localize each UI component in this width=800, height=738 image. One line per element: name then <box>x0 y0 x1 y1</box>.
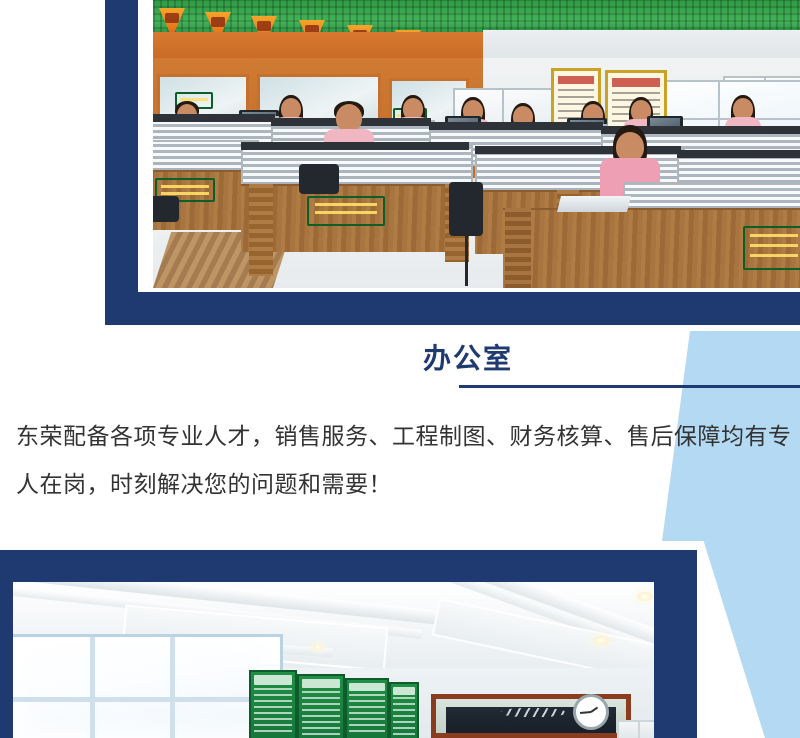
section-heading-block: 办公室 <box>0 331 800 393</box>
cubicle-partition-cap <box>677 150 800 158</box>
window-wall <box>13 634 283 738</box>
page-title: 办公室 <box>423 337 513 377</box>
training-room-photo <box>13 582 654 738</box>
open-plan-office-photo <box>153 0 800 288</box>
notice-board <box>389 682 419 738</box>
cubicle-partition-cap <box>153 114 275 122</box>
section-description: 东荣配备各项专业人才，销售服务、工程制图、财务核算、售后保障均有专人在岗，时刻解… <box>16 412 796 508</box>
wall-clock <box>573 694 609 730</box>
cubicle-partition-cap <box>241 142 469 150</box>
chair-post <box>465 234 468 286</box>
notice-board <box>297 674 345 738</box>
downlight <box>637 592 653 601</box>
downlight <box>593 636 609 645</box>
cubicle-partition-cap <box>429 122 603 130</box>
office-chair <box>449 182 483 236</box>
desk-leg <box>249 184 273 276</box>
paper-stack <box>557 196 631 212</box>
department-sign-waimao2bu <box>743 226 800 270</box>
heading-underline <box>459 385 800 388</box>
wall-shelf <box>617 720 654 738</box>
office-chair <box>153 196 179 222</box>
promo-page: 办公室 东荣配备各项专业人才，销售服务、工程制图、财务核算、售后保障均有专人在岗… <box>0 0 800 738</box>
notice-board <box>249 670 297 738</box>
notice-board <box>345 678 389 738</box>
downlight <box>313 644 323 650</box>
department-sign-dianshangbu <box>307 196 385 226</box>
desk-leg <box>505 208 531 288</box>
section-description-text: 东荣配备各项专业人才，销售服务、工程制图、财务核算、售后保障均有专人在岗，时刻解… <box>16 412 796 508</box>
office-chair <box>299 164 339 194</box>
